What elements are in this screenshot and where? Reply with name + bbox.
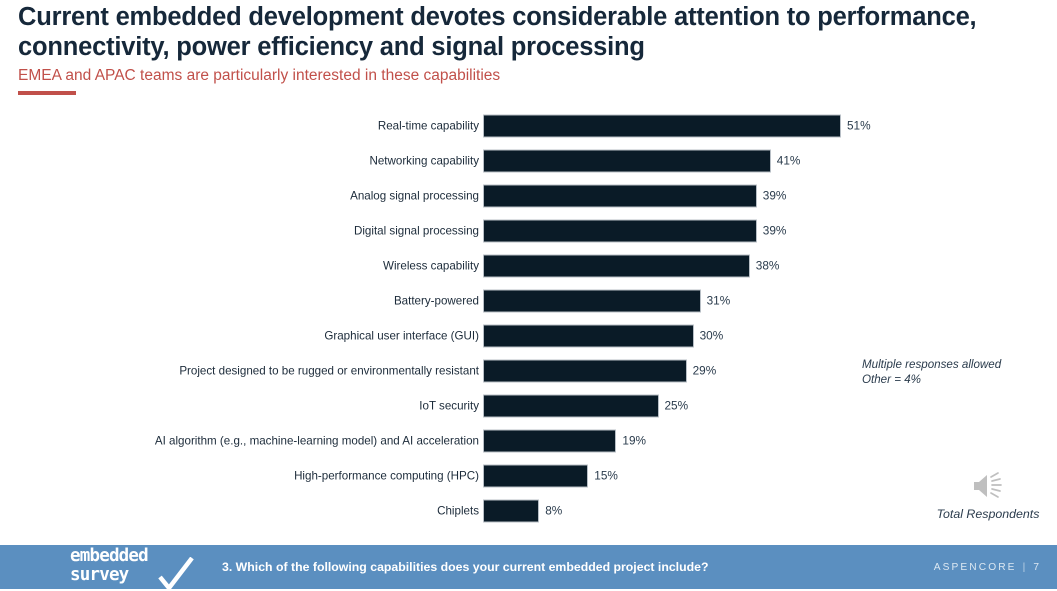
bar-value-label: 38%	[756, 259, 780, 273]
bar-category-label: AI algorithm (e.g., machine-learning mod…	[19, 434, 479, 448]
bar	[483, 289, 701, 312]
bar-value-label: 39%	[763, 224, 787, 238]
bar-row: High-performance computing (HPC)15%	[0, 458, 1057, 493]
bar-container: 29%	[483, 359, 716, 382]
bar-container: 51%	[483, 114, 871, 137]
bar-value-label: 51%	[847, 119, 871, 133]
bar	[483, 429, 616, 452]
bar-row: Analog signal processing39%	[0, 178, 1057, 213]
bar-container: 19%	[483, 429, 646, 452]
bar-category-label: Chiplets	[19, 504, 479, 518]
bar-container: 8%	[483, 499, 562, 522]
bar-category-label: Analog signal processing	[19, 189, 479, 203]
bar-container: 25%	[483, 394, 688, 417]
bar-value-label: 39%	[763, 189, 787, 203]
bar-category-label: IoT security	[19, 399, 479, 413]
bar-row: Real-time capability51%	[0, 108, 1057, 143]
bar	[483, 464, 588, 487]
bar	[483, 324, 694, 347]
bar-category-label: Real-time capability	[19, 119, 479, 133]
bar-row: IoT security25%	[0, 388, 1057, 423]
bar-row: Digital signal processing39%	[0, 213, 1057, 248]
bar	[483, 499, 539, 522]
bar-row: Networking capability41%	[0, 143, 1057, 178]
bar	[483, 254, 750, 277]
bar-value-label: 8%	[545, 504, 562, 518]
bar	[483, 149, 771, 172]
total-respondents-block: Total Respondents	[928, 470, 1048, 521]
bar	[483, 184, 757, 207]
slide-header: Current embedded development devotes con…	[18, 0, 1038, 95]
bar-category-label: Project designed to be rugged or environ…	[19, 364, 479, 378]
bar	[483, 114, 841, 137]
brand-name: ASPENCORE	[934, 562, 1017, 573]
speaker-icon	[928, 470, 1048, 502]
bar-category-label: Networking capability	[19, 154, 479, 168]
bar-row: AI algorithm (e.g., machine-learning mod…	[0, 423, 1057, 458]
checkmark-icon	[156, 557, 196, 591]
brand-separator: |	[1023, 562, 1028, 573]
bar-container: 15%	[483, 464, 618, 487]
footer-brand: ASPENCORE | 7	[934, 545, 1039, 589]
bar-row: Graphical user interface (GUI)30%	[0, 318, 1057, 353]
bar-category-label: Wireless capability	[19, 259, 479, 273]
bar-container: 31%	[483, 289, 730, 312]
accent-underline	[18, 91, 76, 95]
page-title: Current embedded development devotes con…	[18, 0, 1038, 62]
bar-container: 30%	[483, 324, 723, 347]
bar-container: 39%	[483, 219, 786, 242]
chart-note: Multiple responses allowed Other = 4%	[862, 357, 1001, 387]
slide-footer: embedded survey 3. Which of the followin…	[0, 545, 1057, 589]
bar-value-label: 19%	[622, 434, 646, 448]
bar-category-label: Graphical user interface (GUI)	[19, 329, 479, 343]
bar-category-label: Battery-powered	[19, 294, 479, 308]
page-subtitle: EMEA and APAC teams are particularly int…	[18, 66, 1038, 86]
bar-row: Battery-powered31%	[0, 283, 1057, 318]
bar-row: Chiplets8%	[0, 493, 1057, 528]
bar-value-label: 30%	[700, 329, 724, 343]
footer-question: 3. Which of the following capabilities d…	[222, 545, 708, 589]
bar-category-label: High-performance computing (HPC)	[19, 469, 479, 483]
total-respondents-label: Total Respondents	[928, 507, 1048, 521]
bar	[483, 394, 659, 417]
bar-value-label: 29%	[693, 364, 717, 378]
bar	[483, 219, 757, 242]
bar-container: 41%	[483, 149, 800, 172]
bar-container: 38%	[483, 254, 779, 277]
bar-value-label: 15%	[594, 469, 618, 483]
bar-category-label: Digital signal processing	[19, 224, 479, 238]
bar-chart: Real-time capability51%Networking capabi…	[0, 108, 1057, 538]
bar	[483, 359, 687, 382]
bar-row: Wireless capability38%	[0, 248, 1057, 283]
page-number: 7	[1033, 562, 1039, 573]
bar-value-label: 31%	[707, 294, 731, 308]
bar-value-label: 41%	[777, 154, 801, 168]
embedded-survey-logo: embedded survey	[70, 547, 190, 589]
bar-container: 39%	[483, 184, 786, 207]
bar-value-label: 25%	[665, 399, 689, 413]
